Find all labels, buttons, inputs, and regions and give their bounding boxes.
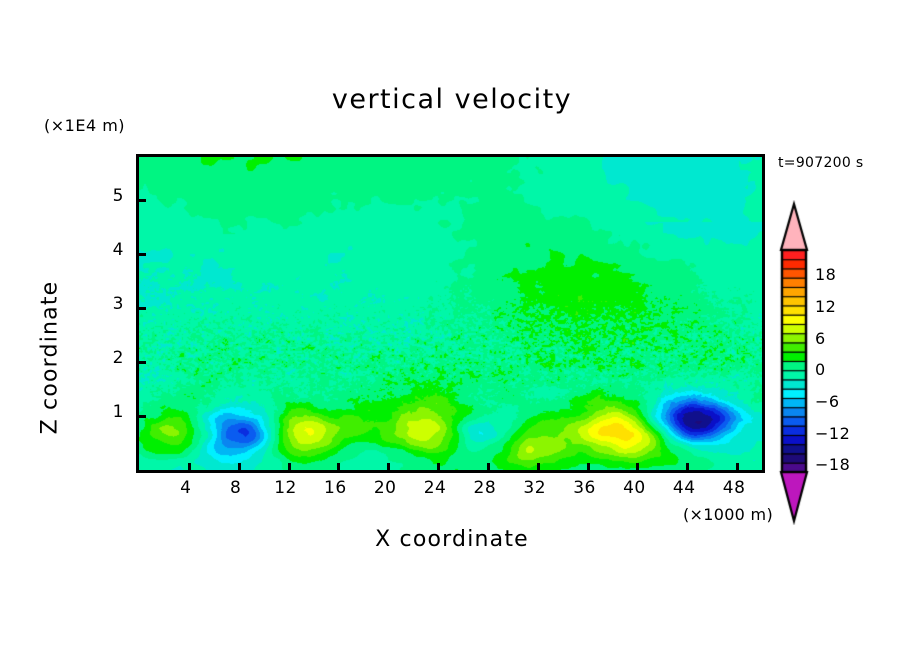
x-tick-label: 20 xyxy=(365,478,405,498)
vertical-velocity-field xyxy=(139,157,762,470)
contour-plot-area[interactable] xyxy=(136,154,765,473)
x-tick xyxy=(736,463,739,472)
y-tick xyxy=(137,307,146,310)
simulation-timestamp: t=907200 s xyxy=(778,155,863,171)
y-tick-label: 4 xyxy=(96,240,124,260)
x-tick-label: 24 xyxy=(415,478,455,498)
colorbar-label: −6 xyxy=(815,392,840,411)
colorbar-label: 0 xyxy=(815,360,826,379)
y-tick-label: 5 xyxy=(96,186,124,206)
x-tick-label: 12 xyxy=(266,478,306,498)
y-tick-label: 1 xyxy=(96,402,124,422)
y-tick xyxy=(137,253,146,256)
x-tick-label: 8 xyxy=(216,478,256,498)
y-tick xyxy=(137,415,146,418)
x-axis-title: X coordinate xyxy=(0,527,904,552)
x-tick-label: 4 xyxy=(166,478,206,498)
x-tick-label: 32 xyxy=(515,478,555,498)
colorbar-label: −12 xyxy=(815,424,850,443)
x-tick xyxy=(188,463,191,472)
page-title: vertical velocity xyxy=(0,84,904,115)
x-tick-label: 40 xyxy=(614,478,654,498)
x-tick xyxy=(288,463,291,472)
colorbar[interactable]: 181260−6−12−18 xyxy=(775,200,821,525)
x-tick-label: 48 xyxy=(714,478,754,498)
x-tick xyxy=(387,463,390,472)
y-tick-label: 3 xyxy=(96,294,124,314)
x-tick xyxy=(537,463,540,472)
y-tick xyxy=(137,361,146,364)
x-tick-label: 16 xyxy=(315,478,355,498)
y-tick xyxy=(137,199,146,202)
x-tick xyxy=(487,463,490,472)
x-tick xyxy=(686,463,689,472)
colorbar-label: 18 xyxy=(815,265,836,284)
x-tick xyxy=(337,463,340,472)
y-axis-title: Z coordinate xyxy=(38,248,63,468)
y-tick-label: 2 xyxy=(96,348,124,368)
x-tick-label: 28 xyxy=(465,478,505,498)
x-tick xyxy=(437,463,440,472)
x-tick xyxy=(587,463,590,472)
x-tick-label: 44 xyxy=(664,478,704,498)
x-tick-label: 36 xyxy=(565,478,605,498)
y-axis-unit-label: (×1E4 m) xyxy=(44,116,125,135)
colorbar-label: 12 xyxy=(815,297,836,316)
colorbar-label: −18 xyxy=(815,455,850,474)
x-axis-unit-label: (×1000 m) xyxy=(683,505,773,524)
x-tick xyxy=(636,463,639,472)
colorbar-label: 6 xyxy=(815,329,826,348)
x-tick xyxy=(238,463,241,472)
